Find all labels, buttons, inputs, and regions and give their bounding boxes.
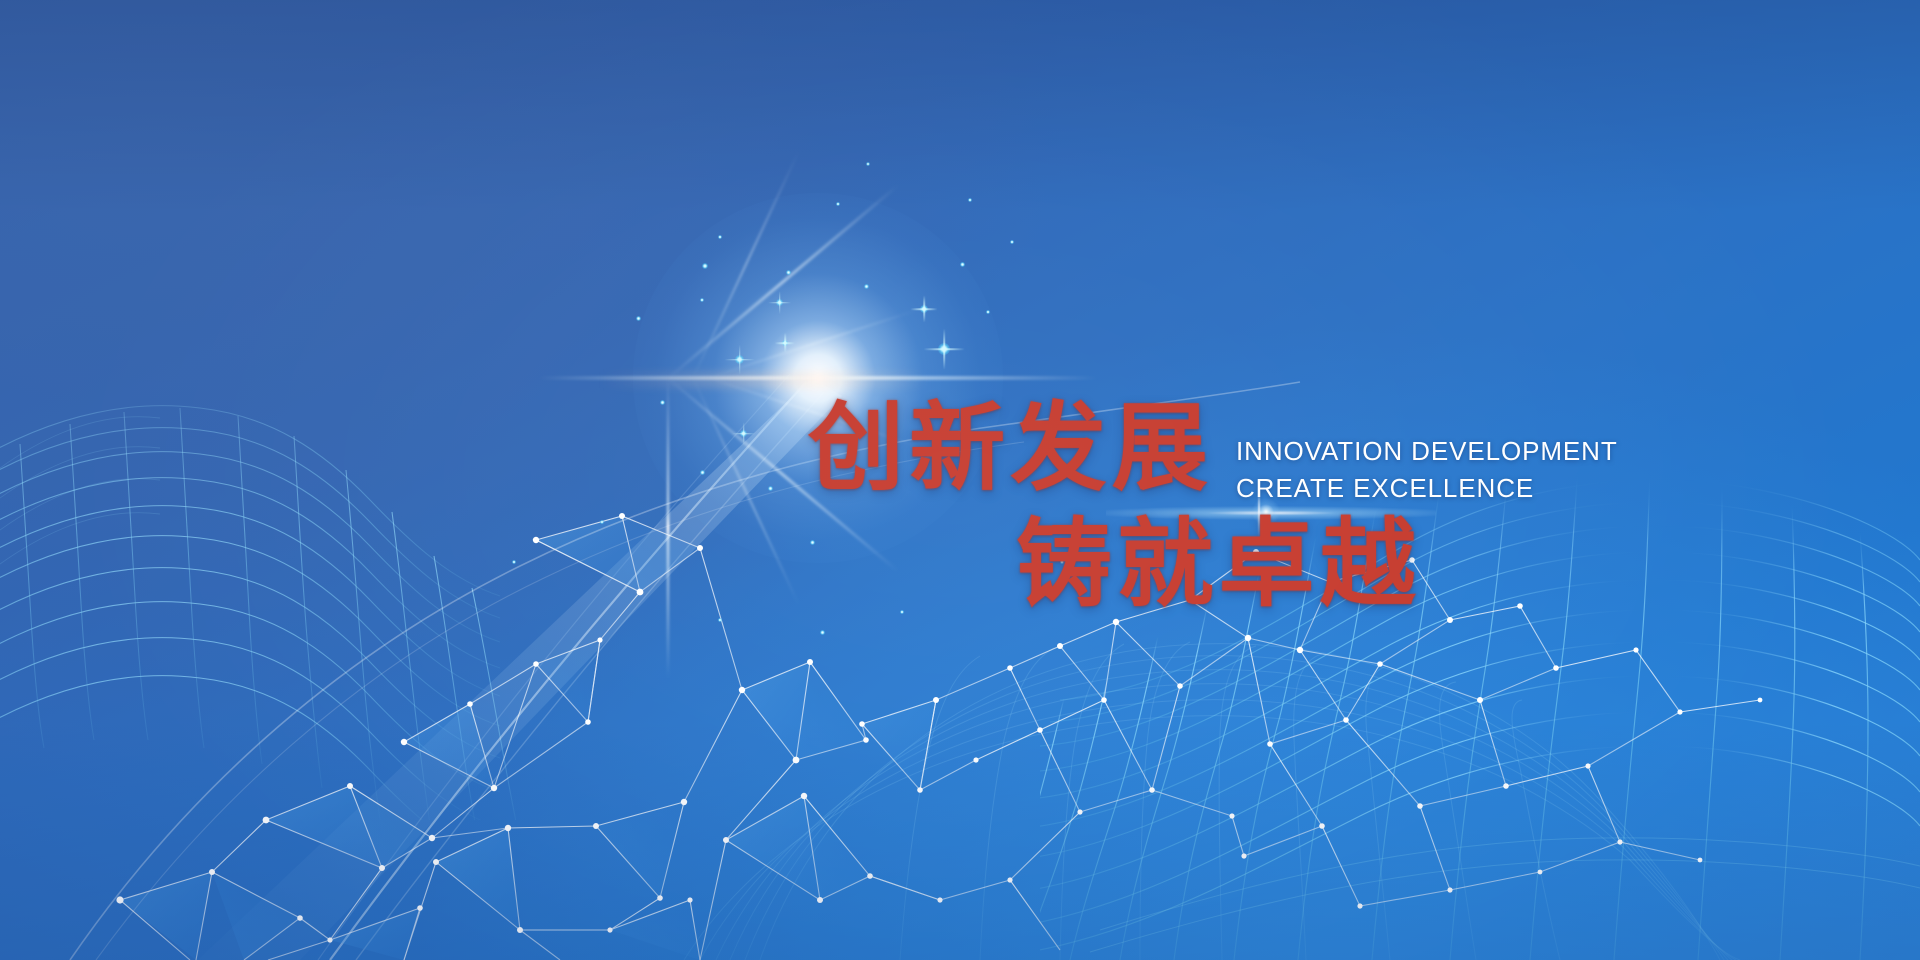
hero-banner: 创新发展 铸就卓越 INNOVATION DEVELOPMENT CREATE … (0, 0, 1920, 960)
background-vignette (0, 0, 1920, 960)
